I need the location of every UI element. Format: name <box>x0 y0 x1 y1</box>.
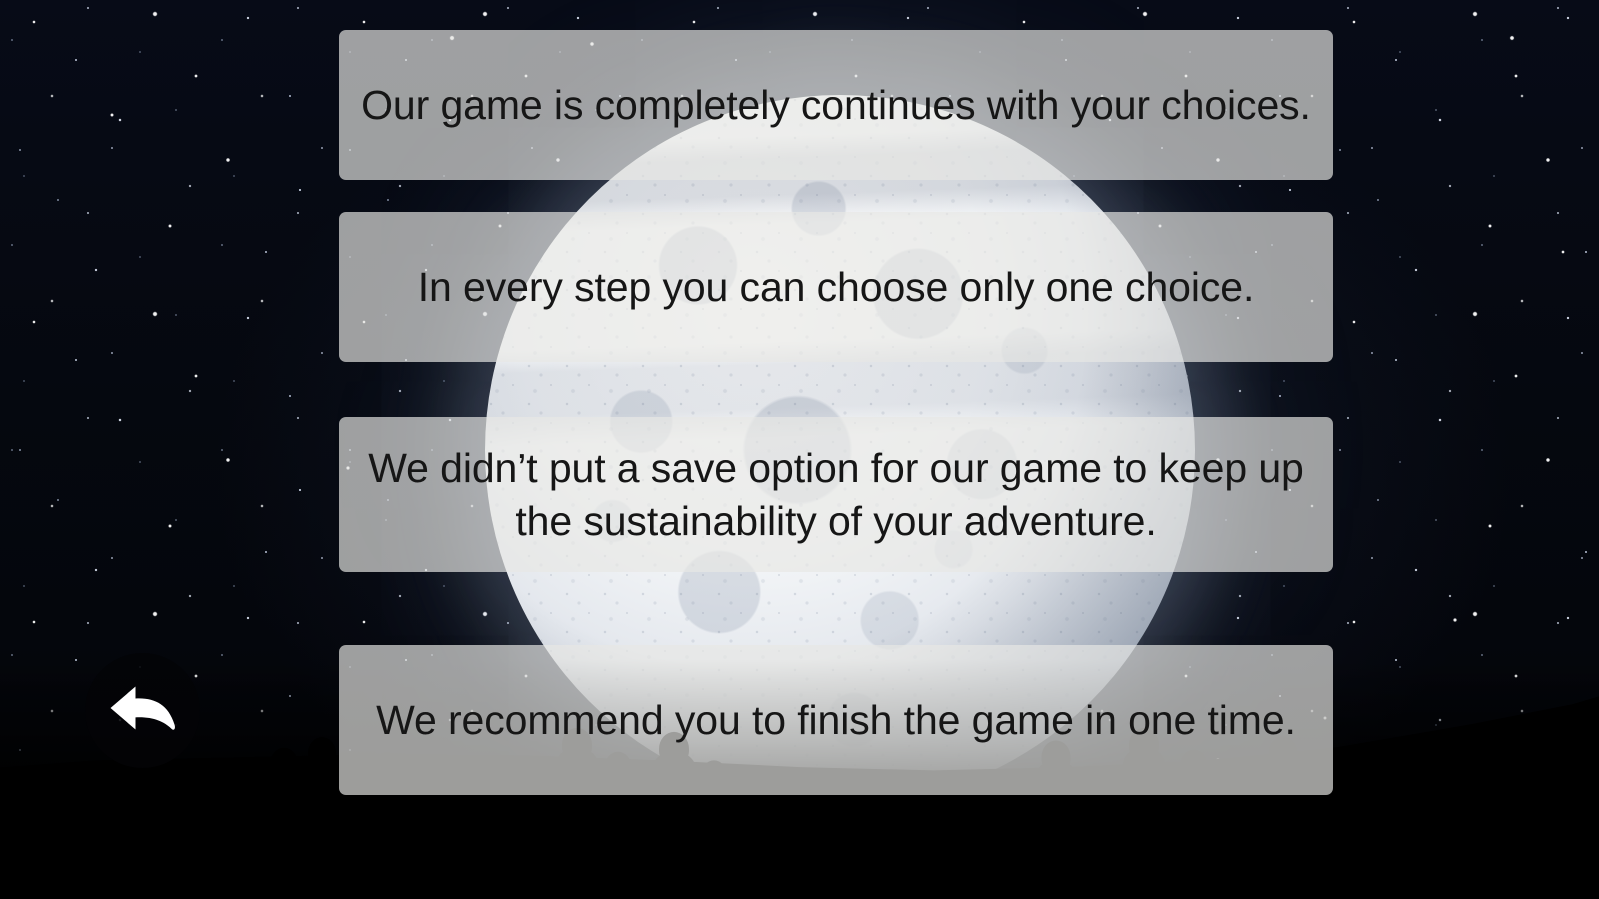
figure-silhouette <box>1434 773 1478 899</box>
instruction-panel-one-choice: In every step you can choose only one ch… <box>339 212 1333 362</box>
instruction-text: In every step you can choose only one ch… <box>418 261 1255 313</box>
back-button[interactable] <box>85 653 200 768</box>
figure-silhouette <box>303 757 341 899</box>
figure-silhouette <box>1545 803 1585 899</box>
figure-silhouette <box>183 789 223 899</box>
figure-silhouette <box>697 779 731 899</box>
game-screen: Our game is completely continues with yo… <box>0 0 1599 899</box>
figure-silhouette <box>742 843 772 899</box>
figure-silhouette <box>150 781 184 899</box>
figure-silhouette <box>470 841 526 899</box>
back-arrow-icon <box>104 680 182 742</box>
figure-silhouette <box>1492 795 1526 899</box>
figure-silhouette <box>1345 781 1381 899</box>
instruction-panel-choices: Our game is completely continues with yo… <box>339 30 1333 180</box>
instruction-panel-no-save: We didn’t put a save option for our game… <box>339 417 1333 572</box>
figure-silhouette <box>266 767 302 899</box>
instruction-text: We recommend you to finish the game in o… <box>376 694 1296 746</box>
figure-silhouette <box>404 803 434 899</box>
instruction-panel-finish-one-time: We recommend you to finish the game in o… <box>339 645 1333 795</box>
figure-silhouette <box>780 791 818 899</box>
instruction-text: Our game is completely continues with yo… <box>361 79 1311 131</box>
instruction-text: We didn’t put a save option for our game… <box>361 442 1311 547</box>
figure-silhouette <box>1079 787 1113 899</box>
figure-silhouette <box>1218 801 1248 899</box>
